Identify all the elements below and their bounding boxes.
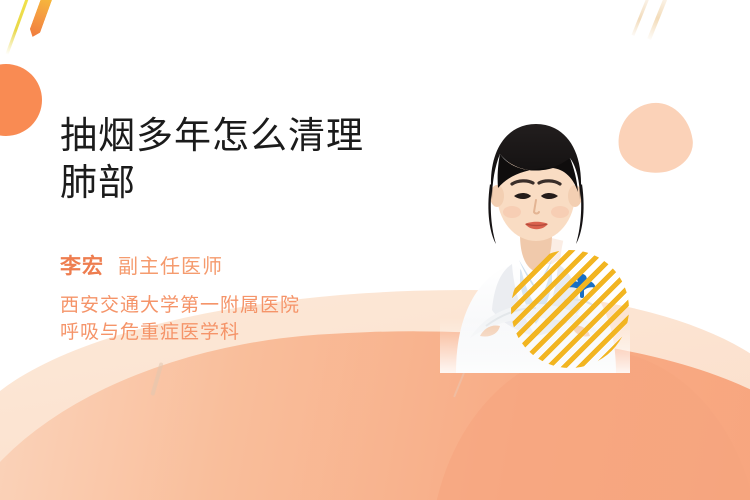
striped-circle-decoration xyxy=(511,250,629,368)
text-content-block: 抽烟多年怎么清理 肺部 李宏 副主任医师 西安交通大学第一附属医院 呼吸与危重症… xyxy=(60,112,430,346)
cream-stripe-icon-b xyxy=(647,0,669,40)
cream-stripe-icon-a xyxy=(632,0,651,36)
yellow-stripe-icon xyxy=(5,0,30,55)
thin-sliver-decoration-left xyxy=(150,362,163,396)
doctor-hospital: 西安交通大学第一附属医院 xyxy=(60,292,430,319)
page-title: 抽烟多年怎么清理 肺部 xyxy=(60,112,430,206)
orange-circle-decoration xyxy=(0,64,42,136)
doctor-identity-line: 李宏 副主任医师 xyxy=(60,250,430,280)
article-cover-card: 抽烟多年怎么清理 肺部 李宏 副主任医师 西安交通大学第一附属医院 呼吸与危重症… xyxy=(0,0,750,500)
orange-stripe-icon xyxy=(28,0,55,39)
doctor-rank: 副主任医师 xyxy=(118,250,223,279)
thin-sliver-decoration-right xyxy=(453,373,465,398)
doctor-department: 呼吸与危重症医学科 xyxy=(60,319,430,346)
doctor-name: 李宏 xyxy=(60,250,104,280)
